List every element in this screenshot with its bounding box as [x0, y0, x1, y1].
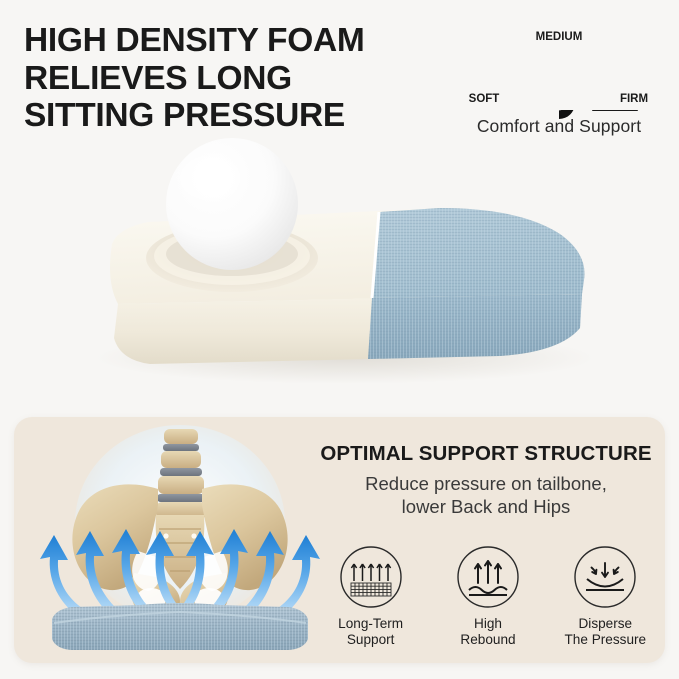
page-title: HIGH DENSITY FOAM RELIEVES LONG SITTING … [24, 22, 444, 135]
support-cushion-weave [52, 603, 308, 650]
gauge-label-soft: SOFT [469, 93, 500, 105]
gauge-needle-hub [552, 96, 567, 111]
feature-list: Long-Term Support High Re [312, 545, 664, 649]
infographic-root: HIGH DENSITY FOAM RELIEVES LONG SITTING … [0, 0, 679, 679]
feature-high-rebound: High Rebound [432, 545, 544, 649]
product-photo [0, 132, 679, 400]
gauge-label-medium: MEDIUM [536, 31, 583, 43]
feature-label-high-rebound: High Rebound [460, 616, 515, 649]
gauge-svg: SOFT MEDIUM FIRM [448, 18, 670, 122]
pelvis-support-illustration [30, 423, 330, 661]
headline-line-2: RELIEVES LONG [24, 60, 444, 98]
disperse-arrows-icon [573, 545, 637, 609]
ball-highlight [180, 156, 240, 200]
feature-1-line2: Rebound [460, 632, 515, 648]
feature-disperse-pressure: Disperse The Pressure [549, 545, 661, 649]
feature-0-line1: Long-Term [338, 616, 403, 632]
gauge-segment-4 [570, 36, 620, 88]
feature-2-line2: The Pressure [565, 632, 647, 648]
feature-1-line1: High [460, 616, 515, 632]
disperse-curve [587, 579, 623, 587]
headline-line-1: HIGH DENSITY FOAM [24, 22, 444, 60]
rebound-wave [469, 587, 507, 593]
gauge-segment-2 [499, 36, 549, 88]
feature-long-term-support: Long-Term Support [315, 545, 427, 649]
support-structure-panel: OPTIMAL SUPPORT STRUCTURE Reduce pressur… [14, 417, 665, 663]
product-illustration [0, 132, 679, 400]
feature-0-line2: Support [338, 632, 403, 648]
panel-subtitle-line-2: lower Back and Hips [314, 496, 658, 519]
panel-subtitle-line-1: Reduce pressure on tailbone, [314, 473, 658, 496]
headline-line-3: SITTING PRESSURE [24, 97, 444, 135]
pressure-test-ball [166, 138, 298, 270]
feature-label-long-term-support: Long-Term Support [338, 616, 403, 649]
grid-upward-arrows-icon [339, 545, 403, 609]
gauge-label-firm: FIRM [620, 93, 648, 105]
panel-text-block: OPTIMAL SUPPORT STRUCTURE Reduce pressur… [314, 442, 658, 519]
wave-upward-arrows-icon [456, 545, 520, 609]
firmness-gauge: SOFT MEDIUM FIRM Comfort and Support [448, 18, 670, 140]
panel-title: OPTIMAL SUPPORT STRUCTURE [314, 442, 658, 466]
feature-label-disperse-pressure: Disperse The Pressure [565, 616, 647, 649]
panel-subtitle: Reduce pressure on tailbone, lower Back … [314, 473, 658, 519]
gauge-needle [543, 50, 575, 119]
feature-2-line1: Disperse [565, 616, 647, 632]
cushion-fabric-top-weave [372, 208, 585, 298]
pelvis-illustration-svg [30, 423, 330, 661]
